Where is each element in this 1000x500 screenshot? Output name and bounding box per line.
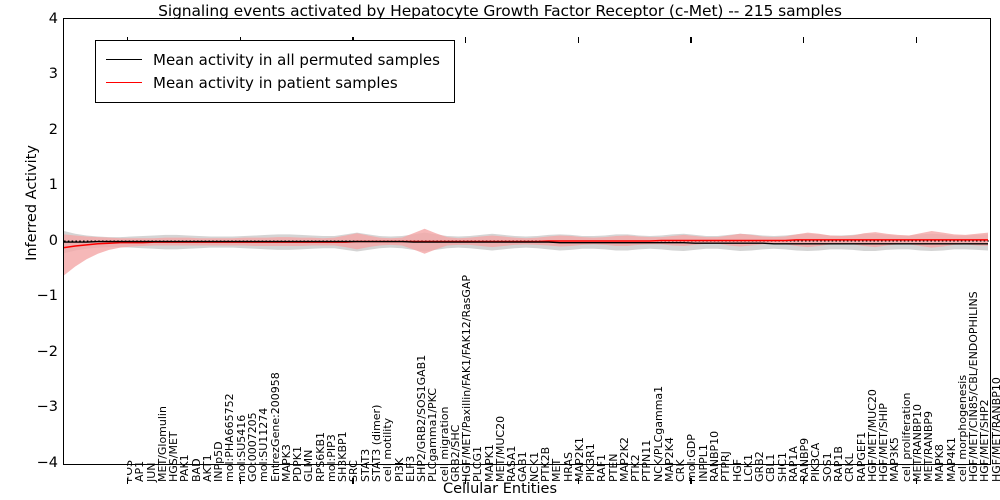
x-axis-label: Cellular Entities [0, 481, 1000, 497]
y-tick-label: −4 [0, 455, 58, 471]
chart-figure: Signaling events activated by Hepatocyte… [0, 0, 1000, 500]
legend-item-patient: Mean activity in patient samples [106, 71, 440, 94]
legend-label-permuted: Mean activity in all permuted samples [153, 51, 440, 69]
y-tick-label: −1 [0, 288, 58, 304]
legend-swatch-patient [106, 82, 142, 83]
y-tick-label: 4 [0, 11, 58, 27]
y-tick-label: −3 [0, 399, 58, 415]
legend-swatch-permuted [106, 59, 142, 60]
x-category-label: JUN [146, 462, 157, 482]
legend-label-patient: Mean activity in patient samples [153, 74, 398, 92]
y-tick-label: 1 [0, 177, 58, 193]
x-category-label: HGF/MET/RANBP10 [991, 377, 1000, 482]
chart-legend: Mean activity in all permuted samples Me… [95, 40, 455, 103]
y-tick-label: 0 [0, 233, 58, 249]
y-axis-label: Inferred Activity [24, 83, 40, 323]
x-category-label: AP1 [134, 461, 145, 482]
patient-confidence-band [64, 229, 988, 276]
y-tick-label: −2 [0, 344, 58, 360]
y-tick-label: 2 [0, 122, 58, 138]
legend-item-permuted: Mean activity in all permuted samples [106, 48, 440, 71]
y-tick-label: 3 [0, 66, 58, 82]
